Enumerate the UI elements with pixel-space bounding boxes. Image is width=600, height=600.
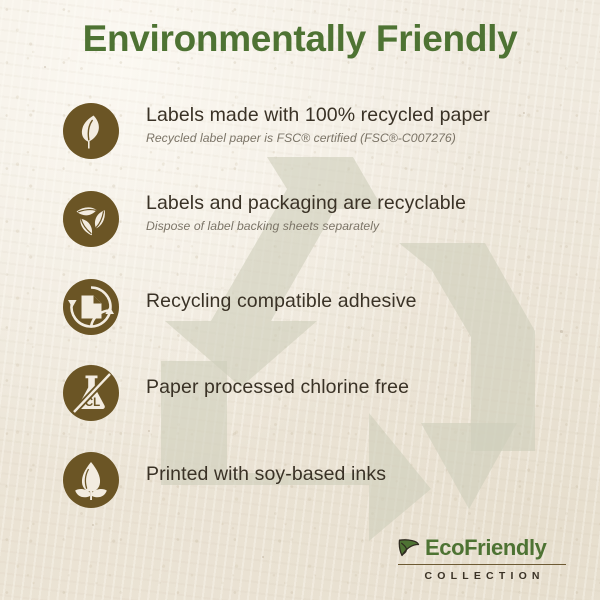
- feature-text: Labels made with 100% recycled paper Rec…: [146, 102, 490, 145]
- page-recycle-arrows-icon: [62, 278, 120, 336]
- no-chlorine-flask-icon: CL: [62, 364, 120, 422]
- feature-row: Recycling compatible adhesive: [62, 278, 417, 336]
- paper-speck: [318, 184, 321, 186]
- feature-row: Labels and packaging are recyclable Disp…: [62, 190, 466, 248]
- feature-title: Printed with soy-based inks: [146, 463, 386, 485]
- paper-speck: [523, 112, 525, 114]
- feature-row: Labels made with 100% recycled paper Rec…: [62, 102, 490, 160]
- feature-title: Labels made with 100% recycled paper: [146, 104, 490, 126]
- feature-title: Paper processed chlorine free: [146, 376, 409, 398]
- brand-divider: [398, 564, 566, 566]
- page-title: Environmentally Friendly: [0, 18, 600, 60]
- feature-text: Paper processed chlorine free: [146, 364, 409, 398]
- feature-row: CL Paper processed chlorine free: [62, 364, 409, 422]
- feature-subtitle: Recycled label paper is FSC® certified (…: [146, 131, 490, 145]
- feature-row: Printed with soy-based inks: [62, 451, 386, 509]
- feature-title: Labels and packaging are recyclable: [146, 192, 466, 214]
- paper-speck: [92, 524, 94, 526]
- brand-top-row: EcoFriendly: [398, 537, 566, 559]
- brand-lockup: EcoFriendly COLLECTION: [398, 537, 566, 583]
- feature-text: Printed with soy-based inks: [146, 451, 386, 485]
- paper-speck: [560, 330, 563, 333]
- feature-text: Recycling compatible adhesive: [146, 278, 417, 312]
- three-leaves-recycle-icon: [62, 190, 120, 248]
- feature-text: Labels and packaging are recyclable Disp…: [146, 190, 466, 233]
- paper-speck: [148, 430, 150, 432]
- leaf-in-circle-icon: [62, 102, 120, 160]
- poster-canvas: Environmentally Friendly Labels made wit…: [0, 0, 600, 600]
- leaf-icon: [398, 538, 420, 558]
- feature-subtitle: Dispose of label backing sheets separate…: [146, 219, 466, 233]
- brand-tagline: COLLECTION: [398, 570, 566, 582]
- brand-name: EcoFriendly: [425, 537, 547, 559]
- paper-speck: [44, 66, 46, 68]
- soy-sprout-drop-icon: [62, 451, 120, 509]
- feature-title: Recycling compatible adhesive: [146, 290, 417, 312]
- paper-speck: [262, 556, 264, 558]
